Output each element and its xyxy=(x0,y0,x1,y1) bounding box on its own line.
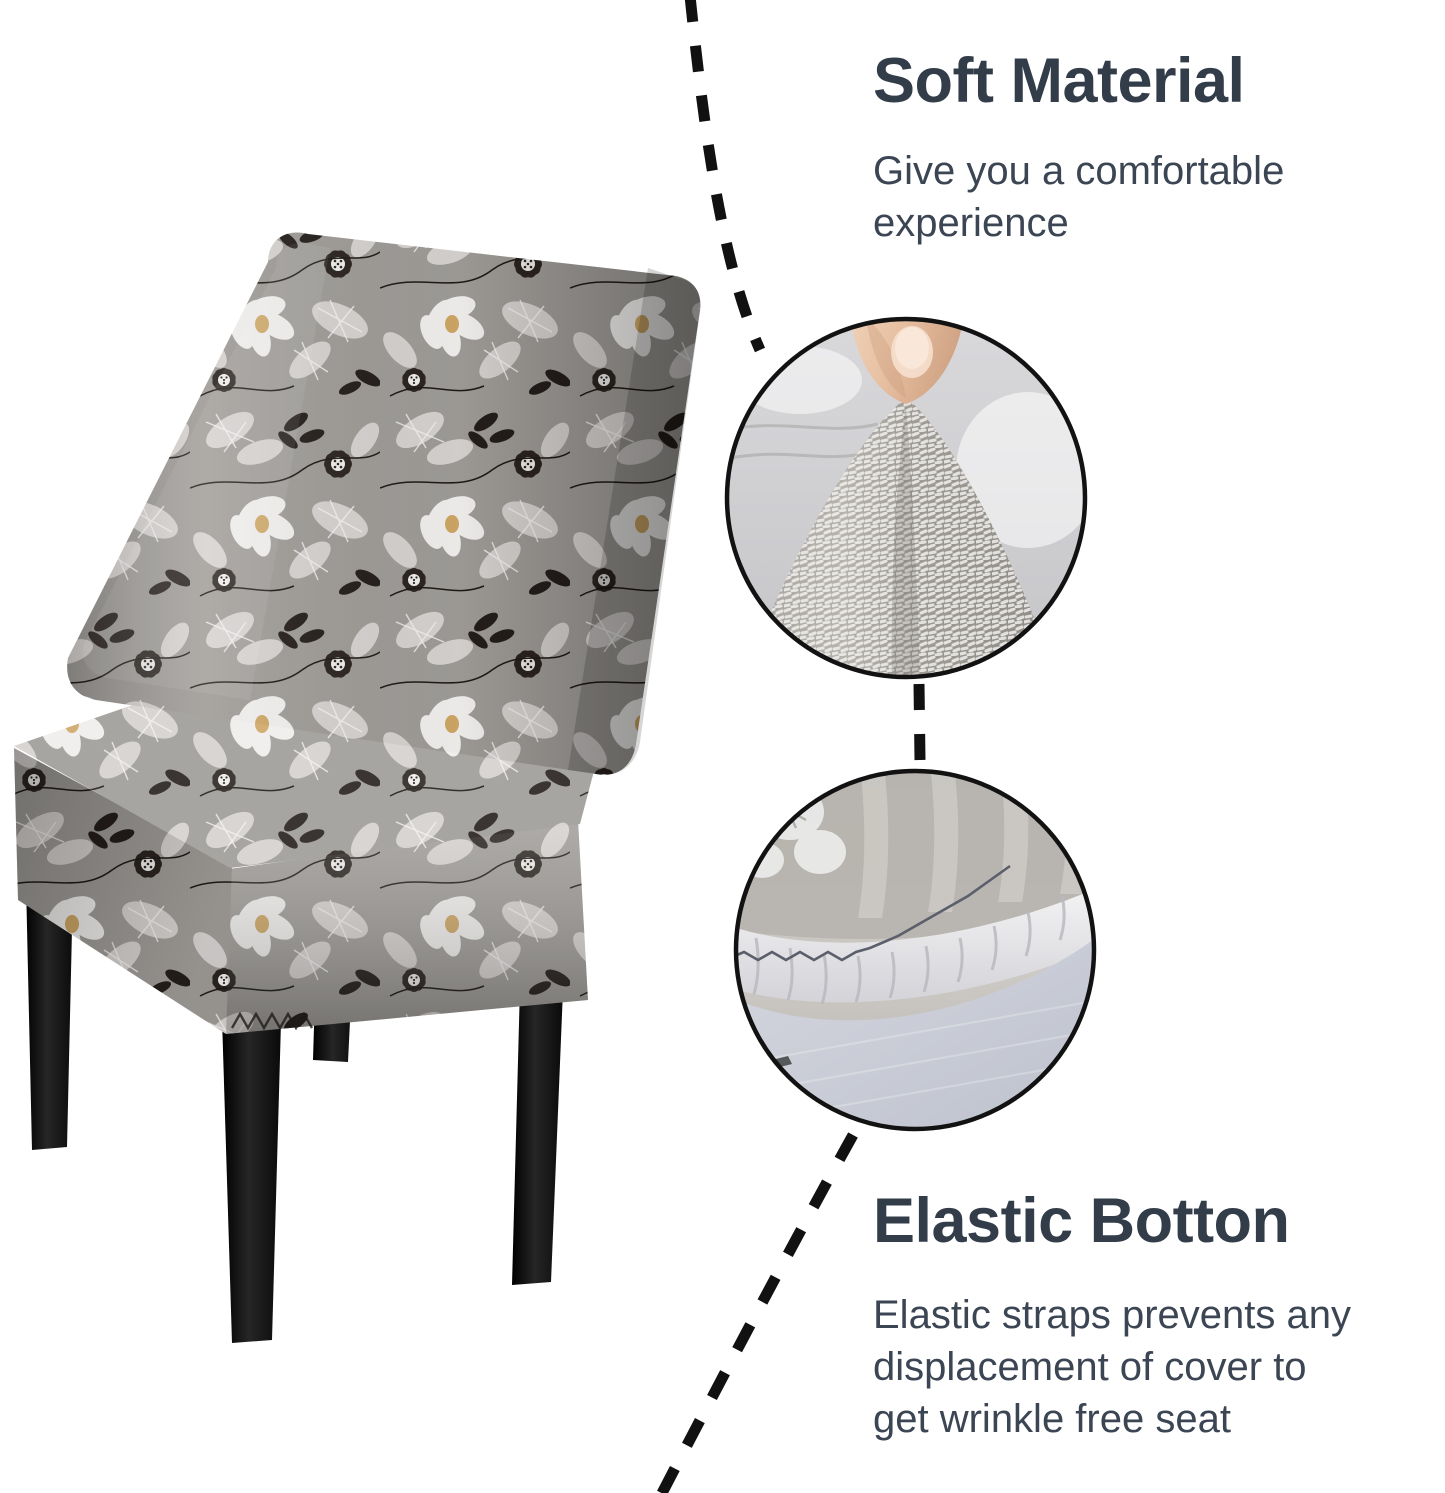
infographic-canvas: Soft Material Give you a comfortable exp… xyxy=(0,0,1445,1493)
feature-block-elastic-botton: Elastic Botton Elastic straps prevents a… xyxy=(873,1188,1421,1445)
feature-block-soft-material: Soft Material Give you a comfortable exp… xyxy=(873,48,1413,249)
mid-dashed-link xyxy=(919,684,920,760)
lower-dashed-curve xyxy=(660,1135,853,1493)
fabric-stretch-detail-photo xyxy=(720,300,1100,690)
feature-description-elastic-botton: Elastic straps prevents any displacement… xyxy=(873,1289,1421,1445)
feature-description-line: Give you a comfortable xyxy=(873,149,1284,193)
feature-title-soft-material: Soft Material xyxy=(873,48,1413,115)
feature-title-elastic-botton: Elastic Botton xyxy=(873,1188,1421,1255)
feature-description-line: get wrinkle free seat xyxy=(873,1397,1231,1441)
feature-description-soft-material: Give you a comfortable experience xyxy=(873,145,1413,249)
feature-description-line: displacement of cover to xyxy=(873,1345,1307,1389)
elastic-hem-detail-photo xyxy=(730,764,1106,1144)
feature-description-line: experience xyxy=(873,201,1069,245)
chair-illustration xyxy=(14,232,701,1343)
chair-backrest xyxy=(67,232,701,774)
feature-description-line: Elastic straps prevents any xyxy=(873,1293,1351,1337)
chair-leg-front-right xyxy=(512,986,563,1285)
upper-dashed-curve xyxy=(690,0,760,350)
chair-leg-front-left xyxy=(222,1018,281,1343)
